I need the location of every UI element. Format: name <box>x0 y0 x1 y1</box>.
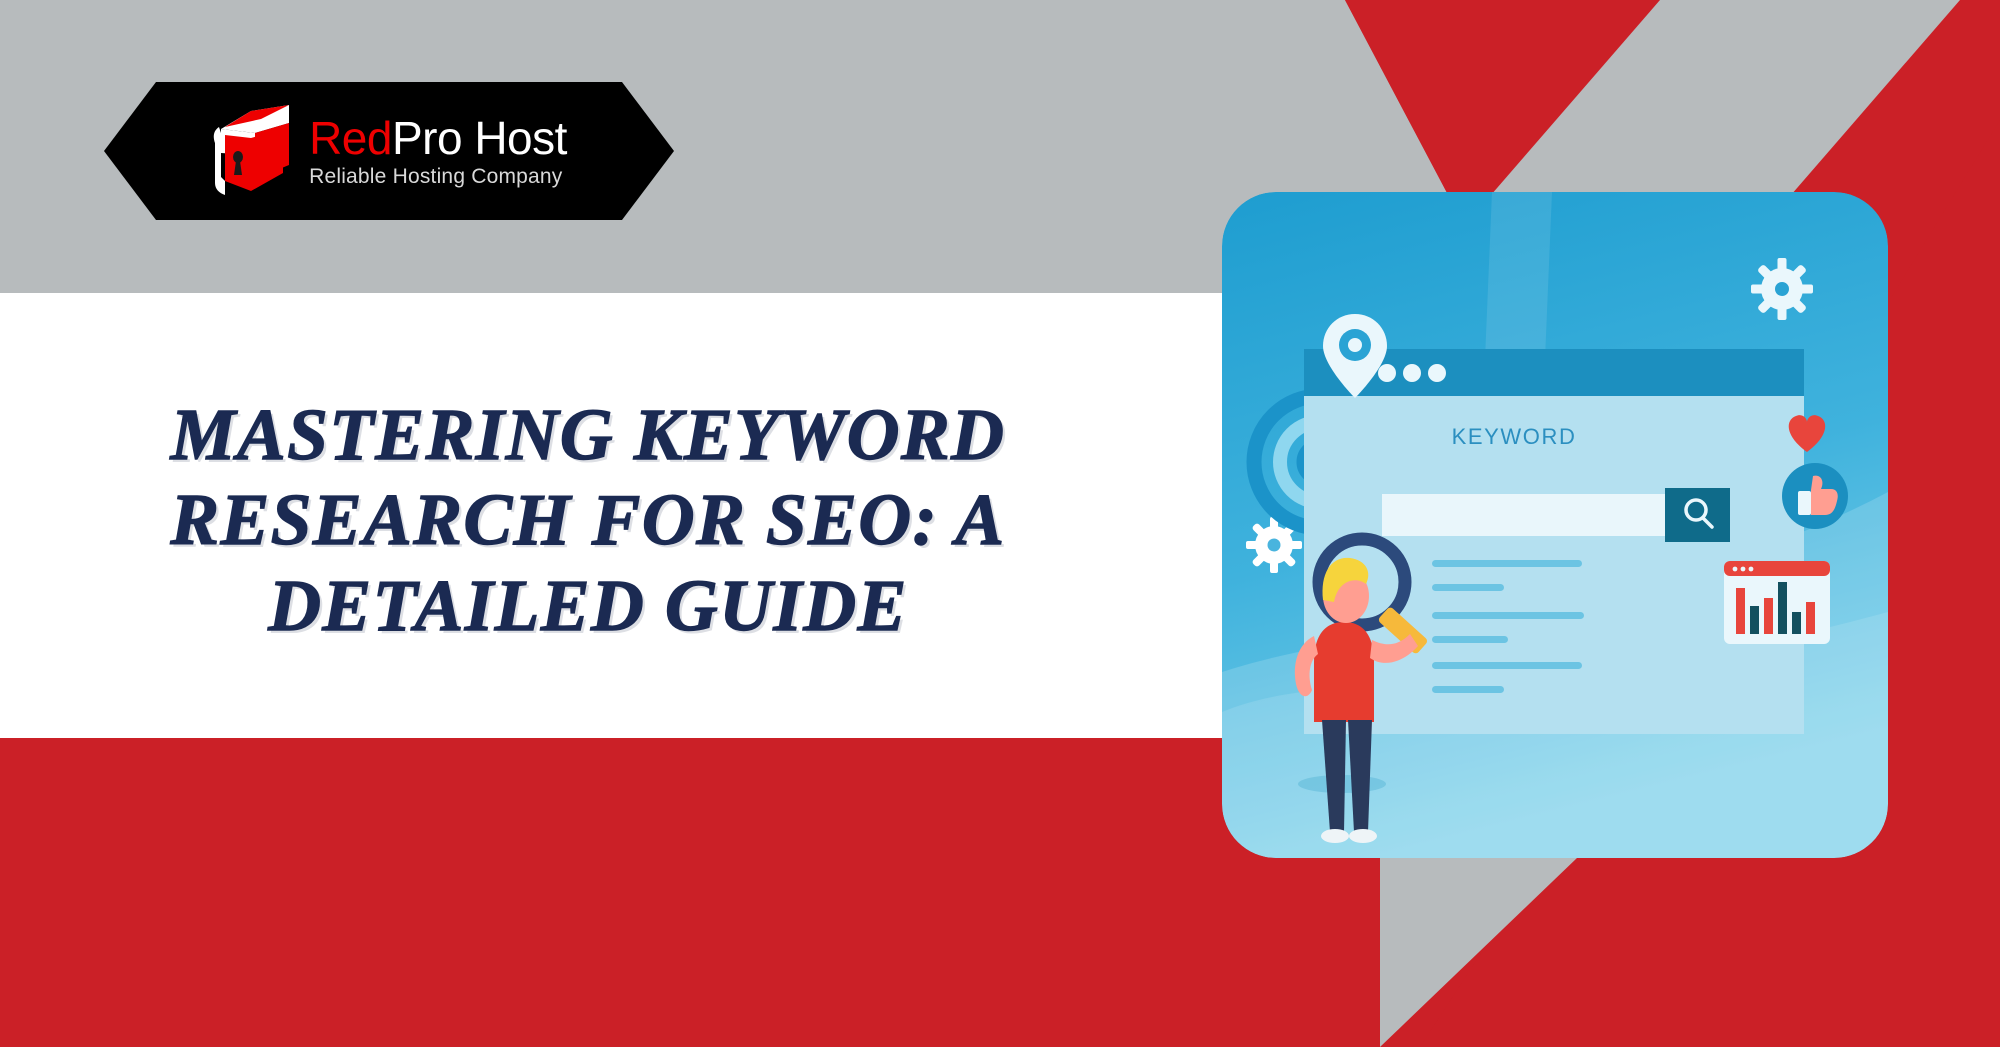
window-dots-icon <box>1378 364 1446 382</box>
logo-tagline: Reliable Hosting Company <box>309 166 567 187</box>
seo-illustration <box>1222 192 1888 858</box>
person-shoe-left <box>1321 829 1349 843</box>
logo-wordmark: RedPro Host <box>309 115 567 161</box>
logo-word-red: Red <box>309 112 392 164</box>
gear-icon-top-right <box>1751 258 1813 320</box>
person-shoe-right <box>1349 829 1377 843</box>
red-bottom-band <box>0 738 1380 1047</box>
search-input <box>1382 494 1665 536</box>
logo-word-prohost: Pro Host <box>392 112 567 164</box>
search-bar <box>1382 488 1730 542</box>
bar-chart-widget-icon <box>1724 561 1830 644</box>
brand-logo[interactable]: RedPro Host Reliable Hosting Company <box>104 82 674 220</box>
page-title: Mastering Keyword Research for SEO: A De… <box>118 392 1058 648</box>
blog-banner: RedPro Host Reliable Hosting Company Mas… <box>0 0 2000 1047</box>
lock-cube-icon <box>211 103 299 201</box>
search-input-value[interactable]: KEYWORD <box>1358 424 1670 450</box>
seo-illustration-card: KEYWORD <box>1222 192 1888 858</box>
search-button <box>1665 488 1730 542</box>
thumbs-up-icon <box>1782 463 1848 529</box>
person-shirt <box>1314 622 1374 722</box>
